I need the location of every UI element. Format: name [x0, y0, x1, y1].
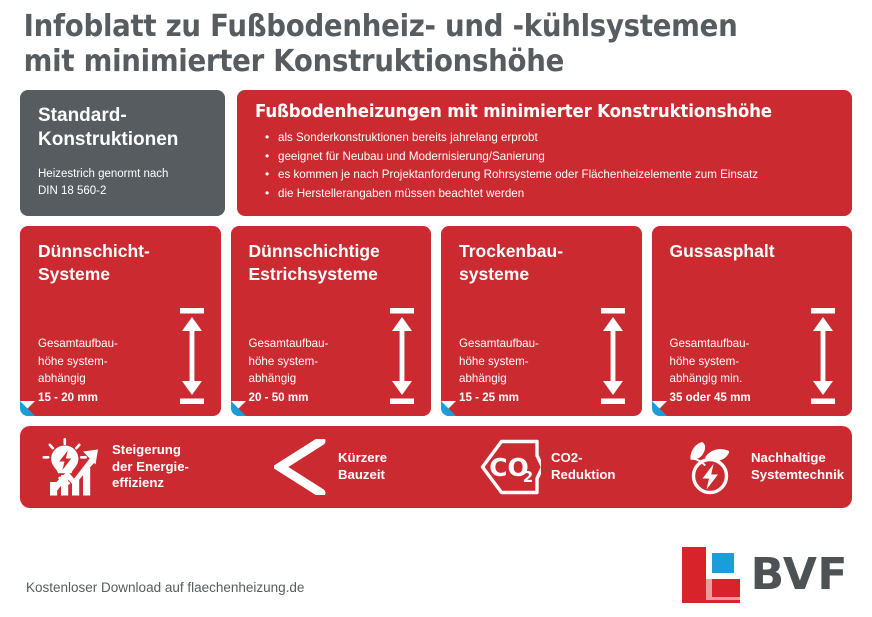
card-description: Gesamtaufbau- höhe system- abhängig min.… — [670, 335, 751, 406]
card-desc-line-2: höhe system- — [670, 353, 751, 370]
benefit-label-line-1: CO2- — [551, 450, 615, 467]
card-value: 20 - 50 mm — [249, 389, 329, 406]
benefit-co2-reduction: CO 2 CO2- Reduktion — [479, 438, 679, 496]
vertical-double-arrow-icon — [387, 308, 417, 406]
card-description: Gesamtaufbau- höhe system- abhängig 15 -… — [459, 335, 539, 406]
benefit-label-line-2: der Energie- — [112, 459, 189, 476]
leaf-bolt-icon — [679, 438, 741, 496]
lightbulb-growth-chart-icon — [42, 438, 102, 496]
card-desc-line-2: höhe system- — [249, 353, 329, 370]
list-item: es kommen je nach Projektanforderung Roh… — [265, 166, 836, 185]
system-card-trockenbausysteme: Trockenbau- systeme Gesamtaufbau- höhe s… — [441, 226, 642, 416]
system-card-duennschichtige-estrichsysteme: Dünnschichtige Estrichsysteme Gesamtaufb… — [231, 226, 432, 416]
list-item: geeignet für Neubau und Modernisierung/S… — [265, 148, 836, 167]
standard-constructions-box: Standard- Konstruktionen Heizestrich gen… — [20, 90, 225, 216]
card-body: Gesamtaufbau- höhe system- abhängig 15 -… — [459, 308, 628, 406]
card-title-line-1: Gussasphalt — [670, 240, 839, 263]
vertical-double-arrow-icon — [177, 308, 207, 406]
card-corner-fold — [652, 401, 667, 416]
card-title-line-1: Trockenbau- — [459, 240, 628, 263]
card-title-line-1: Dünnschichtige — [249, 240, 418, 263]
benefit-label: Nachhaltige Systemtechnik — [751, 450, 844, 483]
intro-box: Fußbodenheizungen mit minimierter Konstr… — [237, 90, 852, 216]
benefit-label-line-1: Nachhaltige — [751, 450, 844, 467]
bvf-logo-icon — [682, 547, 740, 603]
list-item: die Herstellerangaben müssen beachtet we… — [265, 185, 836, 204]
bvf-logo[interactable]: BVF — [682, 547, 848, 603]
system-card-duennschicht-systeme: Dünnschicht- Systeme Gesamtaufbau- höhe … — [20, 226, 221, 416]
intro-heading: Fußbodenheizungen mit minimierter Konstr… — [255, 102, 807, 122]
card-title-line-2: Estrichsysteme — [249, 263, 418, 286]
standard-constructions-heading: Standard- Konstruktionen — [38, 104, 209, 153]
standard-heading-line-1: Standard- — [38, 104, 209, 128]
card-description: Gesamtaufbau- höhe system- abhängig 15 -… — [38, 335, 118, 406]
download-text: Kostenloser Download auf flaechenheizung… — [26, 580, 304, 595]
card-desc-line-3: abhängig min. — [670, 370, 751, 387]
card-corner-fold — [441, 401, 456, 416]
card-desc-line-1: Gesamtaufbau- — [38, 335, 118, 352]
card-value: 15 - 20 mm — [38, 389, 118, 406]
footer: Kostenloser Download auf flaechenheizung… — [20, 533, 852, 617]
card-desc-line-2: höhe system- — [38, 353, 118, 370]
standard-note-line-1: Heizestrich genormt nach — [38, 166, 209, 183]
card-desc-line-3: abhängig — [249, 370, 329, 387]
card-desc-line-3: abhängig — [38, 370, 118, 387]
benefit-label: Steigerung der Energie- effizienz — [112, 442, 189, 492]
card-desc-line-3: abhängig — [459, 370, 539, 387]
benefit-label-line-1: Steigerung — [112, 442, 189, 459]
vertical-double-arrow-icon — [808, 308, 838, 406]
svg-text:2: 2 — [523, 468, 533, 486]
infographic-sheet: Infoblatt zu Fußbodenheiz- und -kühlsyst… — [0, 0, 872, 617]
co2-down-arrow-icon: CO 2 — [479, 438, 541, 496]
card-value: 35 oder 45 mm — [670, 389, 751, 406]
intro-bullet-list: als Sonderkonstruktionen bereits jahrela… — [255, 129, 836, 204]
vertical-double-arrow-icon — [598, 308, 628, 406]
card-corner-fold — [231, 401, 246, 416]
benefit-label: Kürzere Bauzeit — [338, 450, 387, 483]
card-title: Dünnschicht- Systeme — [38, 240, 207, 288]
card-value: 15 - 25 mm — [459, 389, 539, 406]
benefit-label-line-2: Bauzeit — [338, 467, 387, 484]
card-desc-line-2: höhe system- — [459, 353, 539, 370]
card-body: Gesamtaufbau- höhe system- abhängig min.… — [670, 308, 839, 406]
chevron-left-icon — [274, 439, 328, 495]
standard-constructions-note: Heizestrich genormt nach DIN 18 560-2 — [38, 166, 209, 199]
card-title: Gussasphalt — [670, 240, 839, 288]
benefit-label-line-1: Kürzere — [338, 450, 387, 467]
bvf-logo-text: BVF — [751, 553, 848, 597]
card-description: Gesamtaufbau- höhe system- abhängig 20 -… — [249, 335, 329, 406]
benefit-label-line-2: Systemtechnik — [751, 467, 844, 484]
card-desc-line-1: Gesamtaufbau- — [249, 335, 329, 352]
card-corner-fold — [20, 401, 35, 416]
card-title: Trockenbau- systeme — [459, 240, 628, 288]
list-item: als Sonderkonstruktionen bereits jahrela… — [265, 129, 836, 148]
card-desc-line-1: Gesamtaufbau- — [670, 335, 751, 352]
system-card-gussasphalt: Gussasphalt Gesamtaufbau- höhe system- a… — [652, 226, 853, 416]
card-title-line-2: systeme — [459, 263, 628, 286]
benefit-label: CO2- Reduktion — [551, 450, 615, 483]
card-body: Gesamtaufbau- höhe system- abhängig 20 -… — [249, 308, 418, 406]
benefit-shorter-construction-time: Kürzere Bauzeit — [274, 439, 479, 495]
page-title-line-1: Infoblatt zu Fußbodenheiz- und -kühlsyst… — [24, 9, 786, 44]
standard-note-line-2: DIN 18 560-2 — [38, 183, 209, 200]
page-title-line-2: mit minimierter Konstruktionshöhe — [24, 44, 786, 79]
top-row: Standard- Konstruktionen Heizestrich gen… — [20, 90, 852, 216]
benefit-sustainable-system-technology: Nachhaltige Systemtechnik — [679, 438, 844, 496]
page-title: Infoblatt zu Fußbodenheiz- und -kühlsyst… — [20, 0, 785, 86]
benefit-label-line-2: Reduktion — [551, 467, 615, 484]
benefit-label-line-3: effizienz — [112, 475, 189, 492]
benefit-energy-efficiency: Steigerung der Energie- effizienz — [42, 438, 274, 496]
system-cards-row: Dünnschicht- Systeme Gesamtaufbau- höhe … — [20, 226, 852, 416]
card-title-line-2: Systeme — [38, 263, 207, 286]
standard-heading-line-2: Konstruktionen — [38, 128, 209, 152]
card-title: Dünnschichtige Estrichsysteme — [249, 240, 418, 288]
card-desc-line-1: Gesamtaufbau- — [459, 335, 539, 352]
card-title-line-1: Dünnschicht- — [38, 240, 207, 263]
benefits-bar: Steigerung der Energie- effizienz Kürzer… — [20, 426, 852, 508]
card-body: Gesamtaufbau- höhe system- abhängig 15 -… — [38, 308, 207, 406]
